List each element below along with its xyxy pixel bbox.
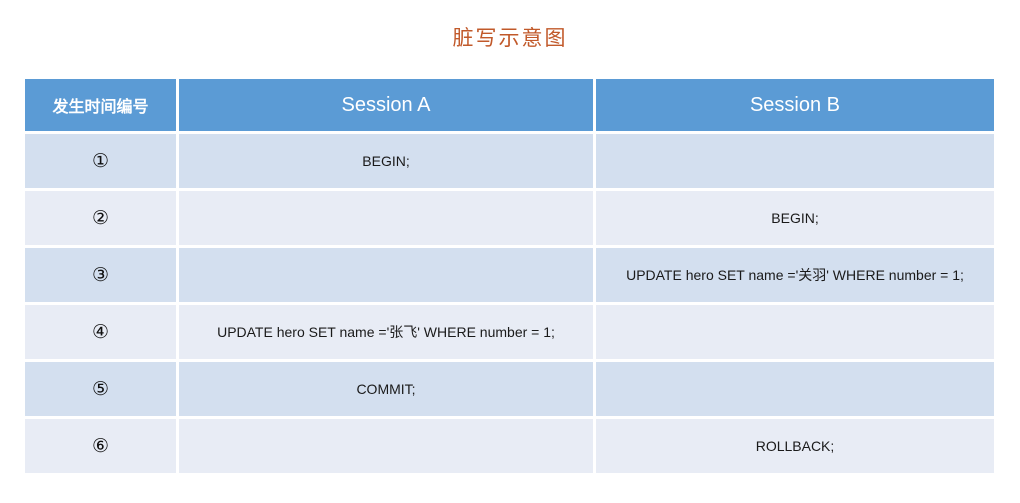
table-row: ② BEGIN;: [25, 191, 994, 245]
page-title: 脏写示意图: [0, 22, 1020, 52]
session-a-statement: [179, 248, 593, 302]
page-root: 脏写示意图 发生时间编号 Session A Session B ① BEGIN…: [0, 0, 1020, 503]
session-b-statement: [596, 134, 994, 188]
table-row: ⑥ ROLLBACK;: [25, 419, 994, 473]
sequence-marker: ②: [25, 191, 176, 245]
session-b-statement: [596, 362, 994, 416]
dirty-write-table-container: 发生时间编号 Session A Session B ① BEGIN; ② BE…: [25, 79, 997, 473]
session-a-statement: UPDATE hero SET name ='张飞' WHERE number …: [179, 305, 593, 359]
session-b-statement: ROLLBACK;: [596, 419, 994, 473]
session-a-statement: [179, 419, 593, 473]
table-body: ① BEGIN; ② BEGIN; ③ UPDATE hero SET name…: [25, 134, 994, 473]
sequence-marker: ①: [25, 134, 176, 188]
table-row: ③ UPDATE hero SET name ='关羽' WHERE numbe…: [25, 248, 994, 302]
table-row: ④ UPDATE hero SET name ='张飞' WHERE numbe…: [25, 305, 994, 359]
column-header-session-a: Session A: [179, 79, 593, 131]
column-header-session-b: Session B: [596, 79, 994, 131]
table-header: 发生时间编号 Session A Session B: [25, 79, 994, 131]
session-b-statement: UPDATE hero SET name ='关羽' WHERE number …: [596, 248, 994, 302]
sequence-marker: ⑥: [25, 419, 176, 473]
table-row: ① BEGIN;: [25, 134, 994, 188]
session-a-statement: BEGIN;: [179, 134, 593, 188]
table-header-row: 发生时间编号 Session A Session B: [25, 79, 994, 131]
table-row: ⑤ COMMIT;: [25, 362, 994, 416]
sequence-marker: ⑤: [25, 362, 176, 416]
dirty-write-table: 发生时间编号 Session A Session B ① BEGIN; ② BE…: [22, 76, 997, 476]
session-a-statement: [179, 191, 593, 245]
session-b-statement: BEGIN;: [596, 191, 994, 245]
column-header-sequence: 发生时间编号: [25, 79, 176, 131]
sequence-marker: ④: [25, 305, 176, 359]
session-a-statement: COMMIT;: [179, 362, 593, 416]
session-b-statement: [596, 305, 994, 359]
sequence-marker: ③: [25, 248, 176, 302]
